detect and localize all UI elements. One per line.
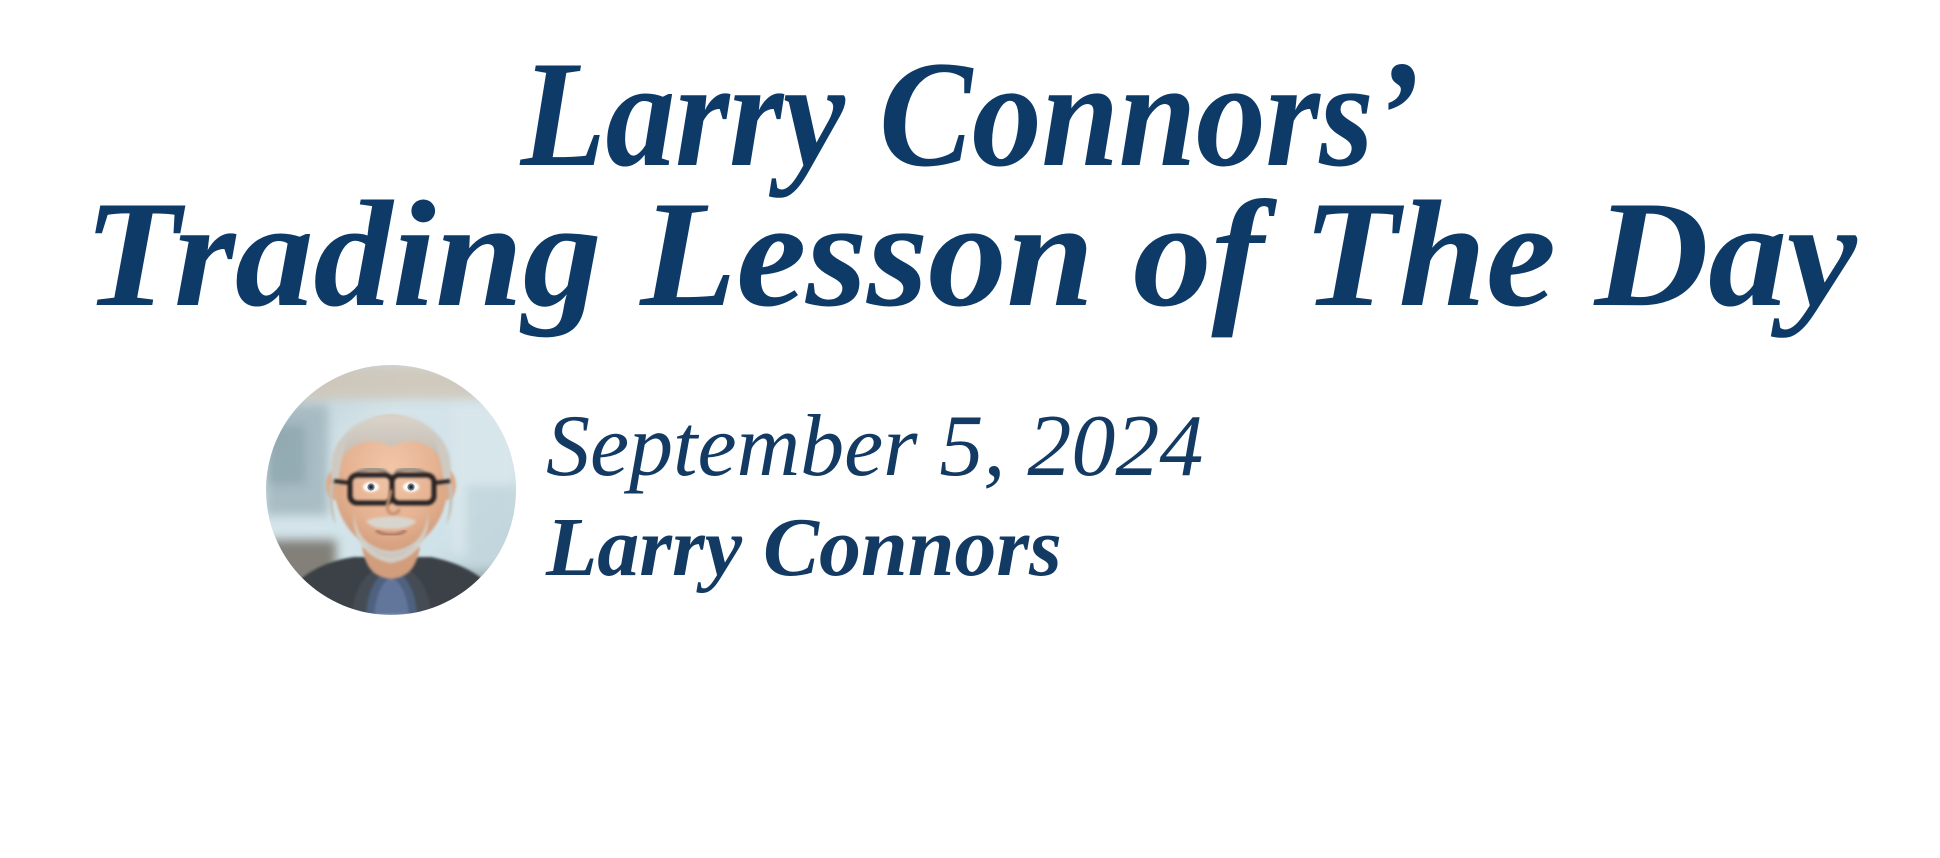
page-title: Larry Connors’ Trading Lesson of The Day — [0, 42, 1940, 328]
lesson-header-banner: Larry Connors’ Trading Lesson of The Day — [0, 0, 1940, 858]
author-portrait-photo — [266, 365, 516, 615]
page-title-line-1: Larry Connors’ — [78, 42, 1863, 188]
byline: September 5, 2024 Larry Connors — [546, 398, 1646, 595]
publish-date: September 5, 2024 — [546, 398, 1646, 497]
author-name: Larry Connors — [546, 501, 1646, 595]
page-title-line-2: Trading Lesson of The Day — [0, 182, 1940, 328]
avatar — [266, 365, 516, 615]
